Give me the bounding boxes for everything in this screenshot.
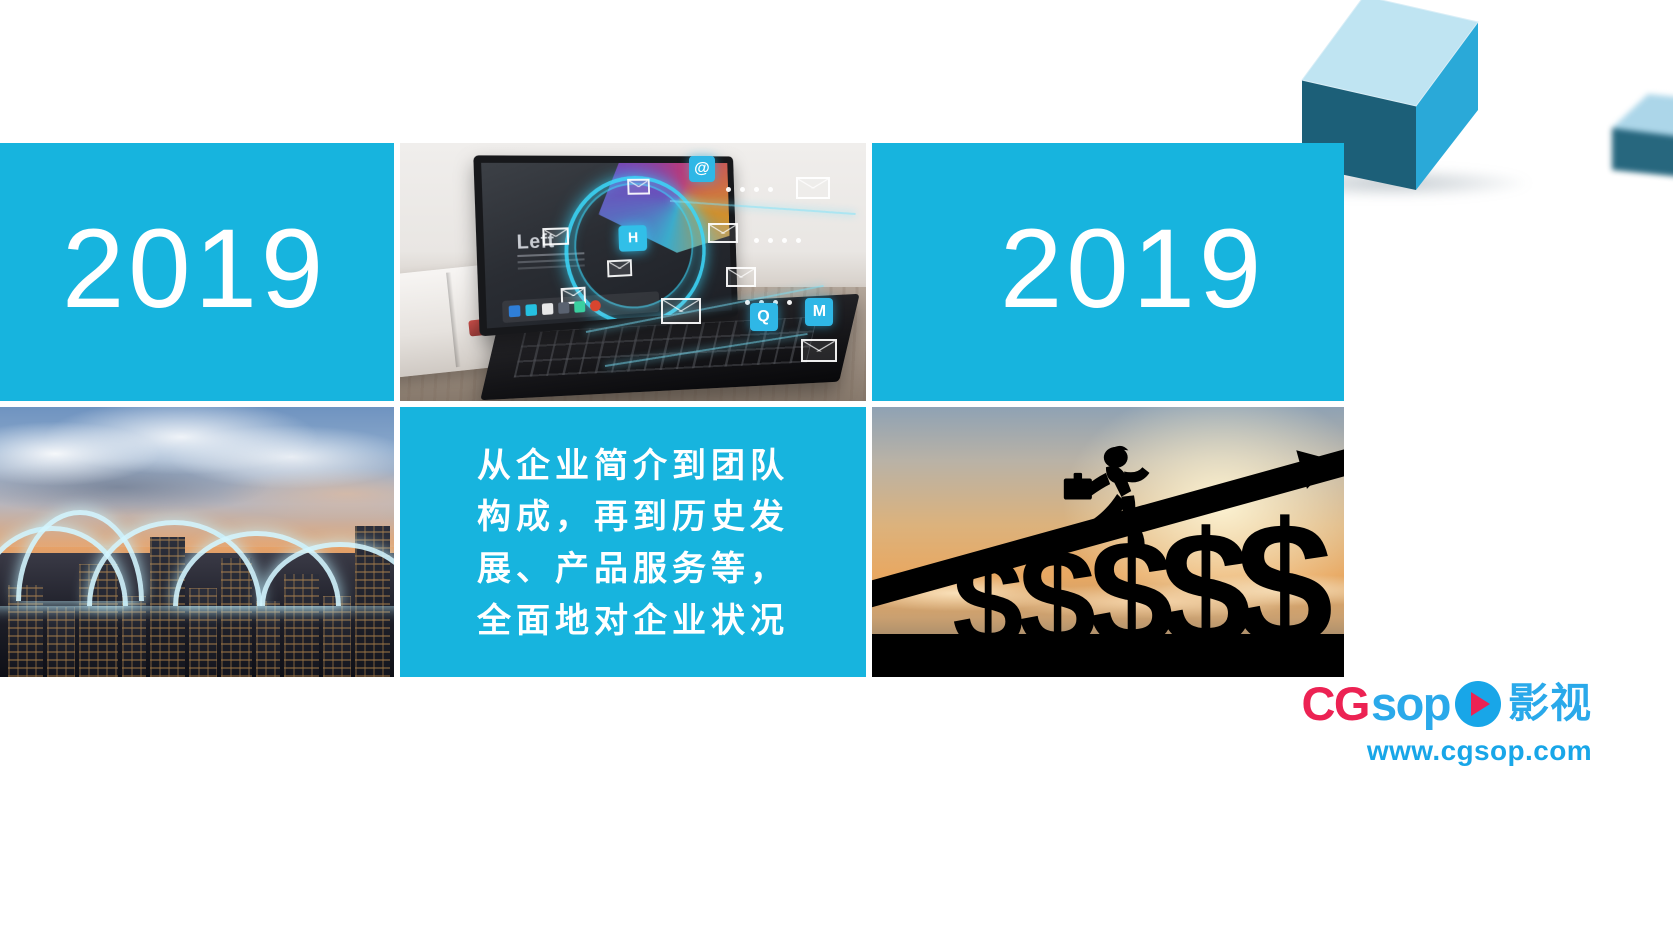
- dock-icon: [590, 300, 601, 312]
- building: [122, 596, 146, 677]
- dot-row: [726, 187, 773, 192]
- copy-line: 构成，再到历史发: [477, 492, 789, 544]
- envelope-icon: [661, 298, 701, 324]
- hub-tile: H: [619, 224, 648, 251]
- brand-cg-text: CG: [1301, 680, 1369, 727]
- brand-wordmark: CG sop 影视: [1232, 680, 1592, 727]
- envelope-icon: [801, 339, 837, 362]
- copy-line: 全面地对企业状况: [477, 596, 789, 648]
- year-panel-left: 2019: [0, 143, 394, 401]
- city-skyline-network-photo: [0, 407, 394, 677]
- 3d-cube-secondary-icon: [1608, 88, 1673, 178]
- brand-chinese-text: 影视: [1508, 683, 1592, 724]
- building: [323, 596, 351, 677]
- businessman-dollar-growth-photo: $ $ $ $ $: [872, 407, 1344, 677]
- copy-line: 展、产品服务等，: [477, 544, 789, 596]
- envelope-icon: [627, 178, 650, 194]
- year-label-right: 2019: [872, 143, 1344, 401]
- dock-icon: [509, 305, 521, 317]
- dock-icon: [575, 301, 586, 313]
- envelope-icon: [726, 267, 756, 287]
- year-label-left: 2019: [0, 143, 394, 401]
- laptop-photo-cell: Left H: [400, 143, 866, 401]
- dot-row: [754, 238, 801, 243]
- play-icon: [1455, 681, 1501, 727]
- building: [256, 601, 280, 677]
- brand-lockup: CG sop 影视 www.cgsop.com: [1232, 680, 1592, 767]
- building: [47, 607, 75, 677]
- at-sign-tile: @: [689, 156, 715, 182]
- running-businessman-silhouette: [1004, 442, 1202, 582]
- dock-icon: [526, 304, 538, 316]
- screen-dock: [503, 291, 660, 322]
- laptop-email-network-photo: Left H: [400, 143, 866, 401]
- dock-icon: [542, 303, 554, 315]
- envelope-icon: [608, 259, 633, 277]
- success-photo-cell: $ $ $ $ $: [872, 407, 1344, 677]
- envelope-icon: [796, 177, 830, 199]
- copy-line: 从企业简介到团队: [477, 441, 789, 493]
- envelope-icon: [708, 223, 738, 243]
- mail-tile: M: [805, 298, 833, 326]
- city-photo-cell: [0, 407, 394, 677]
- image-mosaic-grid: 2019 Left H: [0, 143, 1344, 677]
- brand-sop-text: sop: [1371, 680, 1450, 727]
- body-copy-panel: 从企业简介到团队 构成，再到历史发 展、产品服务等， 全面地对企业状况: [400, 407, 866, 677]
- brand-url: www.cgsop.com: [1232, 735, 1592, 767]
- dock-icon: [559, 302, 570, 314]
- dollar-sign: $: [1235, 515, 1333, 656]
- envelope-icon: [543, 227, 570, 245]
- search-tile: Q: [750, 303, 778, 331]
- body-copy-text: 从企业简介到团队 构成，再到历史发 展、产品服务等， 全面地对企业状况: [400, 407, 866, 677]
- year-panel-right: 2019: [872, 143, 1344, 401]
